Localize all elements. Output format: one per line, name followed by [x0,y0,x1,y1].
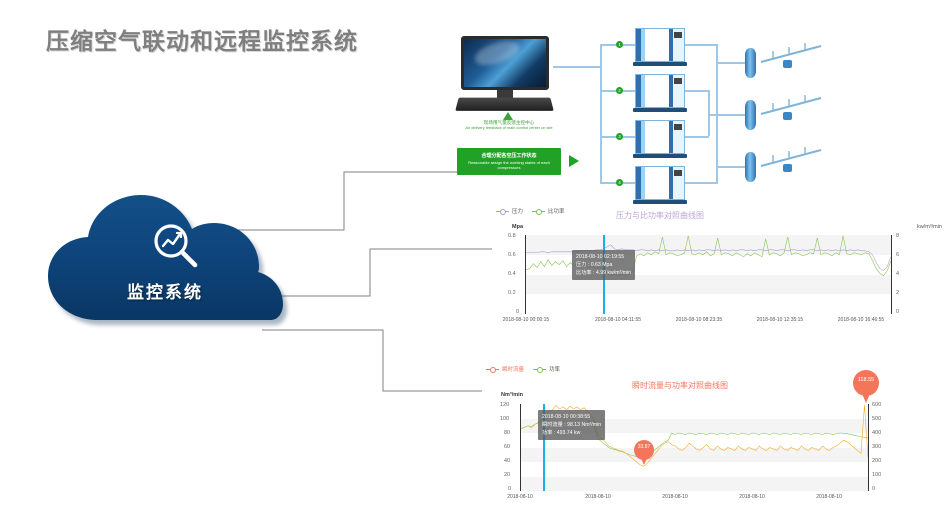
pin-value: 118.55 [853,377,879,383]
chart2-ytick: 0 [508,486,511,492]
chart1-ytick: 0 [516,309,519,315]
pipe-tank-2 [710,114,746,116]
chart-flow-power[interactable]: 瞬时流量 功率 瞬时流量与功率对照曲线图 Nm³/min 120 100 80 … [482,362,942,529]
chart-pressure-specific-power[interactable]: 压力 比功率 压力与比功率对照曲线图 Mpa kw/m³/min 0.8 0.6… [492,205,942,335]
chart1-xtick: 2018-08-10 00:00:15 [500,317,552,324]
chart1-y2tick: 6 [896,252,899,258]
chart1-ytick: 0.4 [508,271,516,277]
legend-item-instant-flow[interactable]: 瞬时流量 [486,365,524,373]
pipe-tank-3 [718,166,746,168]
air-tank-1 [745,48,756,78]
green-status-box: 合理分配各空压工作状态 Reasonable assign the workin… [457,148,561,175]
chart2-ytick: 120 [500,402,509,408]
chart1-ytick: 0.6 [508,252,516,258]
distribution-line-3 [759,144,825,178]
compressor-base [633,200,687,204]
legend-item-power[interactable]: 功率 [533,365,560,373]
chart2-ytick: 20 [504,472,510,478]
compressor-1 [635,28,685,66]
right-arrow-icon [569,155,579,167]
screen-glare [472,36,522,69]
up-arrow-icon [503,112,513,120]
node-4: 4 [616,179,623,186]
compressor-2 [635,74,685,112]
tooltip-time: 2018-08-10 00:38:55 [542,413,601,421]
pin-tail [860,389,872,403]
magnifier-chart-icon [150,220,202,272]
chart1-y-unit: Mpa [512,224,523,230]
chart1-xtick: 2018-08-10 08:23:35 [673,317,725,324]
tooltip-time: 2018-08-10 02:19:55 [576,253,631,261]
chart2-y2tick: 400 [872,430,881,436]
chart2-min-marker[interactable]: 33.87 [634,440,654,466]
site-control-label: 现场用气量反馈主控中心 Air delivery feedback of mai… [455,120,563,131]
pipe-outlet-3 [685,136,709,138]
legend-label: 比功率 [548,207,565,215]
chart1-ytick: 0.8 [508,233,516,239]
chart2-max-marker[interactable]: 118.55 [853,370,879,404]
chart1-ytick: 0.2 [508,290,516,296]
chart1-y2tick: 2 [896,290,899,296]
pipe-tank-1 [718,62,746,64]
chart2-xtick: 2018-08-10 [803,494,855,501]
legend-marker-icon [486,369,499,370]
pipe-bus-vertical [600,44,602,184]
chart2-ytick: 60 [504,444,510,450]
chart1-title: 压力与比功率对照曲线图 [616,210,704,221]
pipe-outlet-4 [685,182,717,184]
desktop-monitor-icon [457,36,552,114]
chart2-y2axis [868,404,869,491]
tooltip-line1: 压力 : 0.63 Mpa [576,261,631,269]
chart2-y2tick: 300 [872,444,881,450]
tooltip-line1: 瞬时流量 : 98.13 Nm³/min [542,421,601,429]
chart1-y2tick: 8 [896,233,899,239]
legend-marker-icon [496,211,509,212]
chart2-tooltip: 2018-08-10 00:38:55 瞬时流量 : 98.13 Nm³/min… [538,410,605,440]
chart2-y2tick: 100 [872,472,881,478]
compressor-4 [635,166,685,204]
chart1-tooltip: 2018-08-10 02:19:55 压力 : 0.63 Mpa 比功率 : … [572,250,635,280]
compressor-panel [674,78,682,84]
chart1-y2tick: 4 [896,271,899,277]
cloud-label: 监控系统 [40,278,290,303]
chart1-xtick: 2018-08-10 12:35:15 [754,317,806,324]
chart2-y-unit: Nm³/min [501,392,523,398]
node-3: 3 [616,133,623,140]
legend-item-pressure[interactable]: 压力 [496,207,523,215]
legend-marker-icon [532,211,545,212]
chart1-y2axis [891,235,892,314]
compressor-base [633,62,687,66]
chart2-ytick: 100 [500,416,509,422]
site-label-en: Air delivery feedback of main control ce… [455,126,563,131]
chart2-xtick: 2018-08-10 [494,494,546,501]
monitoring-cloud[interactable]: 监控系统 [40,192,290,327]
distribution-line-2 [759,92,825,126]
chart2-ytick: 80 [504,430,510,436]
pipe-monitor-bus [553,66,601,68]
chart2-xtick: 2018-08-10 [726,494,778,501]
chart2-y2tick: 0 [872,486,875,492]
node-1: 1 [616,41,623,48]
pipe-outlet-bus-2 [708,90,710,136]
compressor-panel [674,170,682,176]
legend-label: 压力 [512,207,523,215]
legend-label: 瞬时流量 [502,365,524,373]
chart2-xtick: 2018-08-10 [649,494,701,501]
legend-item-specific-power[interactable]: 比功率 [532,207,565,215]
chart2-title: 瞬时流量与功率对照曲线图 [632,380,728,391]
chart2-xtick: 2018-08-10 [572,494,624,501]
compressor-panel [674,124,682,130]
node-2: 2 [616,87,623,94]
monitor-screen [461,36,549,90]
chart2-ytick: 40 [504,458,510,464]
pin-value: 33.87 [634,444,654,450]
system-diagram: 现场用气量反馈主控中心 Air delivery feedback of mai… [435,22,940,207]
chart1-xtick: 2018-08-10 16:46:55 [835,317,887,324]
tooltip-line2: 功率 : 493.74 kw [542,429,601,437]
chart2-legend[interactable]: 瞬时流量 功率 [486,365,560,373]
chart1-legend[interactable]: 压力 比功率 [496,207,565,215]
chart1-y2tick: 0 [896,309,899,315]
pipe-outlet-2 [685,90,709,92]
pipe-outlet-1 [685,44,717,46]
compressor-base [633,108,687,112]
air-tank-3 [745,152,756,182]
chart1-xtick: 2018-08-10 04:11:55 [592,317,644,324]
compressor-panel [674,32,682,38]
compressor-base [633,154,687,158]
compressor-3 [635,120,685,158]
chart2-y2tick: 500 [872,416,881,422]
green-box-en: Reasonable assign the working states of … [457,160,561,170]
air-tank-2 [745,100,756,130]
legend-label: 功率 [549,365,560,373]
legend-marker-icon [533,369,546,370]
keyboard-icon [455,98,554,111]
tooltip-line2: 比功率 : 4.99 kw/m³/min [576,269,631,277]
chart2-y2tick: 200 [872,458,881,464]
chart1-y2-unit: kw/m³/min [917,224,942,230]
distribution-line-1 [759,40,825,74]
